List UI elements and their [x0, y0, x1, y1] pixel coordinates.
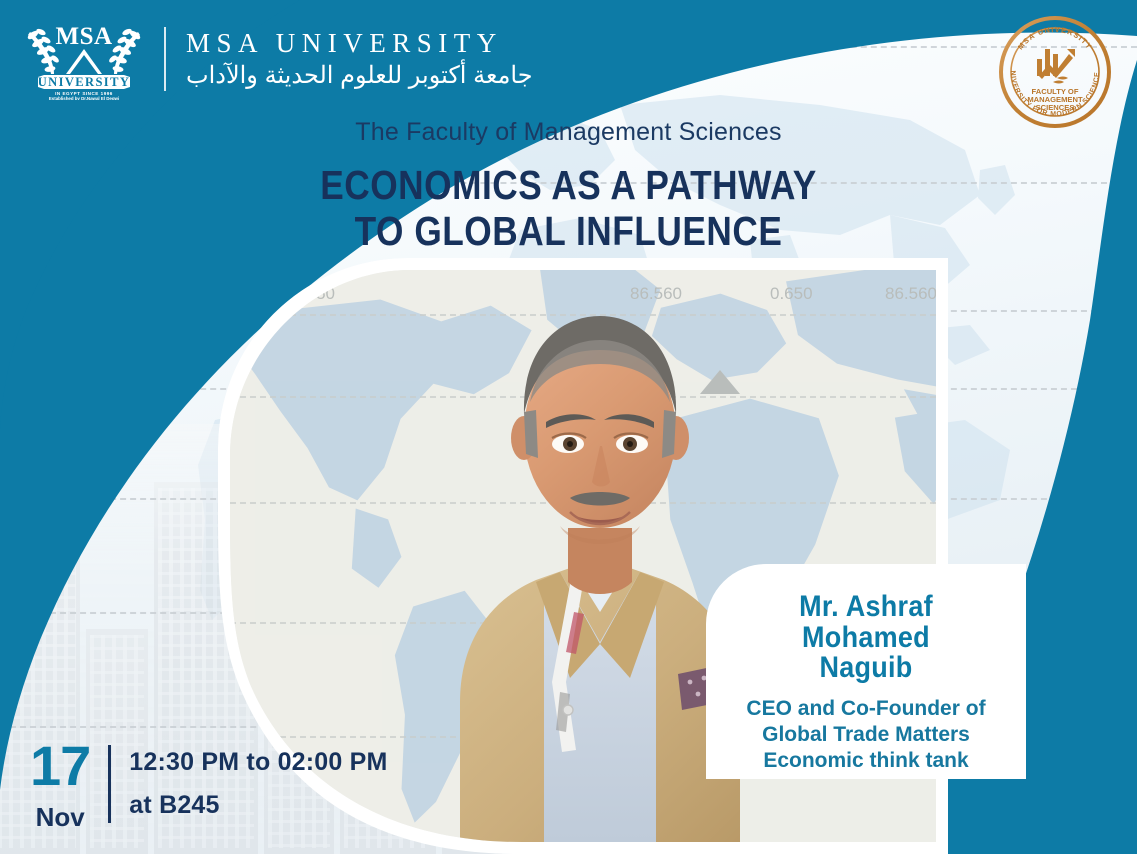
poster-header: MSA UNIVERSITY IN EGYPT SINCE 1996 Estab…: [24, 18, 533, 100]
event-poster: MSA UNIVERSITY IN EGYPT SINCE 1996 Estab…: [0, 0, 1137, 854]
event-details: 12:30 PM to 02:00 PM at B245: [129, 748, 387, 820]
university-name-ar: جامعة أكتوبر للعلوم الحديثة والآداب: [186, 64, 533, 88]
speaker-name-line-1: Mr. Ashraf Mohamed: [736, 592, 995, 653]
faculty-subtitle: The Faculty of Management Sciences: [0, 118, 1137, 147]
speaker-info-card: Mr. Ashraf Mohamed Naguib CEO and Co-Fou…: [706, 564, 1026, 779]
speaker-role-line-1: CEO and Co-Founder of: [746, 696, 985, 722]
svg-text:Established by Dr.Nawal El Deg: Established by Dr.Nawal El Degwi: [49, 96, 119, 100]
header-divider: [164, 27, 166, 91]
event-datetime-block: 17 Nov 12:30 PM to 02:00 PM at B245: [30, 738, 388, 830]
speaker-role: CEO and Co-Founder of Global Trade Matte…: [746, 696, 985, 775]
university-name-en: MSA UNIVERSITY: [186, 30, 533, 57]
ticker-value-3: 86.560: [885, 284, 936, 304]
speaker-name: Mr. Ashraf Mohamed Naguib: [736, 592, 995, 684]
title-line-2: TO GLOBAL INFLUENCE: [80, 209, 1058, 255]
event-month: Nov: [36, 804, 85, 830]
event-day: 17: [30, 738, 90, 794]
faculty-management-sciences-seal-icon: MSA UNIVERSITY OCTOBER UNIVERSITY FOR MO…: [999, 16, 1111, 128]
datetime-divider: [108, 745, 111, 823]
speaker-role-line-3: Economic think tank: [746, 748, 985, 774]
svg-text:UNIVERSITY: UNIVERSITY: [38, 75, 131, 89]
title-block: The Faculty of Management Sciences ECONO…: [0, 118, 1137, 255]
event-location: at B245: [129, 791, 387, 820]
university-wordmark: MSA UNIVERSITY جامعة أكتوبر للعلوم الحدي…: [186, 30, 533, 88]
speaker-role-line-2: Global Trade Matters: [746, 722, 985, 748]
event-date: 17 Nov: [30, 738, 90, 830]
event-time: 12:30 PM to 02:00 PM: [129, 748, 387, 777]
page-title: ECONOMICS AS A PATHWAY TO GLOBAL INFLUEN…: [80, 163, 1058, 255]
svg-text:SCIENCES: SCIENCES: [1036, 103, 1075, 112]
msa-laurel-logo-icon: MSA UNIVERSITY IN EGYPT SINCE 1996 Estab…: [24, 18, 144, 100]
speaker-name-line-2: Naguib: [736, 653, 995, 684]
svg-text:MSA: MSA: [55, 23, 112, 50]
title-line-1: ECONOMICS AS A PATHWAY: [80, 163, 1058, 209]
svg-text:MSA UNIVERSITY: MSA UNIVERSITY: [1016, 25, 1094, 51]
